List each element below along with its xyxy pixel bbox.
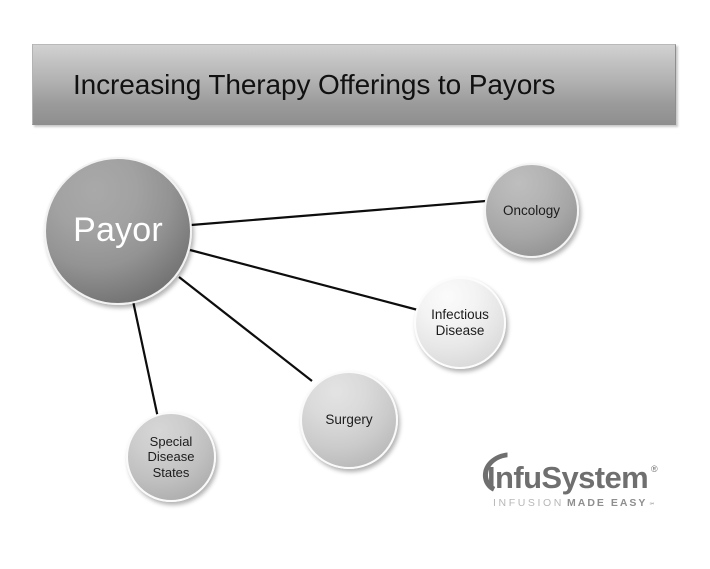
diagram-node-oncology-label: Oncology [497,203,566,219]
diagram-node-special-disease-states[interactable]: Special Disease States [126,412,216,502]
logo-tagline-bold: MADE EASY [567,497,647,509]
registered-trademark-mark: ® [651,464,658,474]
connector-payor-infectious-disease [190,250,418,310]
diagram-node-oncology[interactable]: Oncology [484,163,579,258]
diagram-node-infectious-disease-label: Infectious Disease [425,307,495,338]
label-line-1: Special [150,434,193,449]
diagram-node-payor[interactable]: Payor [44,157,192,305]
service-mark: ℠ [649,502,655,509]
label-line-1: Infectious [431,307,489,322]
slide-canvas: Increasing Therapy Offerings to Payors P… [0,0,710,569]
diagram-node-surgery[interactable]: Surgery [300,371,398,469]
infusystem-logo: InfuSystem ® INFUSION MADE EASY ℠ [479,446,665,512]
connector-payor-special-disease-states [133,301,158,418]
label-line-2: Disease [148,449,195,464]
logo-tagline-light: INFUSION [493,497,564,509]
diagram-node-special-disease-states-label: Special Disease States [142,434,201,479]
label-line-2: Disease [436,323,485,338]
connector-payor-oncology [191,201,486,225]
connector-payor-surgery [179,277,312,381]
label-line-3: States [153,465,190,480]
diagram-node-infectious-disease[interactable]: Infectious Disease [414,277,506,369]
diagram-node-surgery-label: Surgery [319,412,378,428]
diagram-node-payor-label: Payor [67,211,169,250]
infusystem-wordmark: InfuSystem [487,460,648,495]
slide-title-banner: Increasing Therapy Offerings to Payors [32,44,676,125]
page-title: Increasing Therapy Offerings to Payors [73,71,555,99]
